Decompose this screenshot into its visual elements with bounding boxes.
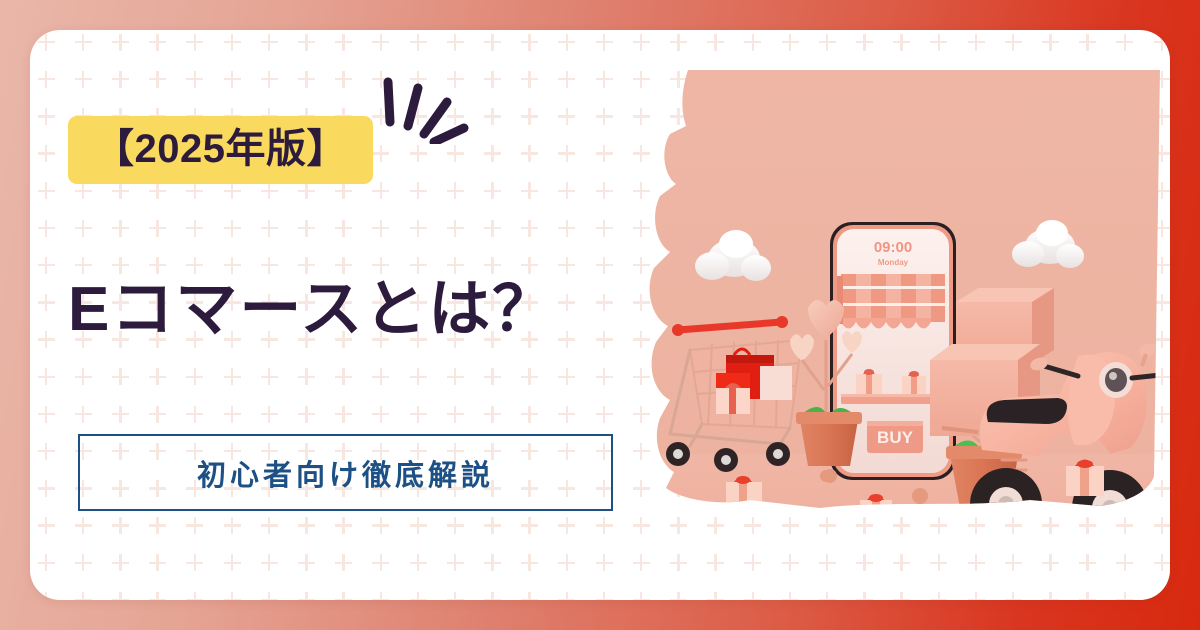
year-badge: 【2025年版】	[68, 116, 373, 184]
shop-awning	[837, 274, 949, 329]
decor-sphere	[912, 488, 928, 504]
subtitle-label: 初心者向け徹底解説	[197, 452, 494, 494]
phone-time: 09:00	[874, 239, 912, 256]
text-column: 【2025年版】 Eコマースとは？ 初心者向け徹底解説	[30, 30, 660, 600]
subtitle-box: 初心者向け徹底解説	[78, 434, 613, 511]
sparkle-burst-icon	[360, 44, 480, 144]
ecommerce-scene-svg: 09:00 Monday	[630, 30, 1170, 600]
phone-day: Monday	[878, 258, 909, 267]
page-title: Eコマースとは？	[68, 276, 648, 344]
hero-card: 【2025年版】 Eコマースとは？ 初心者向け徹底解説	[30, 30, 1170, 600]
illustration-panel: 09:00 Monday	[630, 30, 1170, 600]
buy-label: BUY	[877, 428, 914, 447]
gift-box	[1158, 425, 1170, 457]
decor-sphere	[820, 470, 832, 482]
buy-button: BUY	[867, 421, 923, 453]
